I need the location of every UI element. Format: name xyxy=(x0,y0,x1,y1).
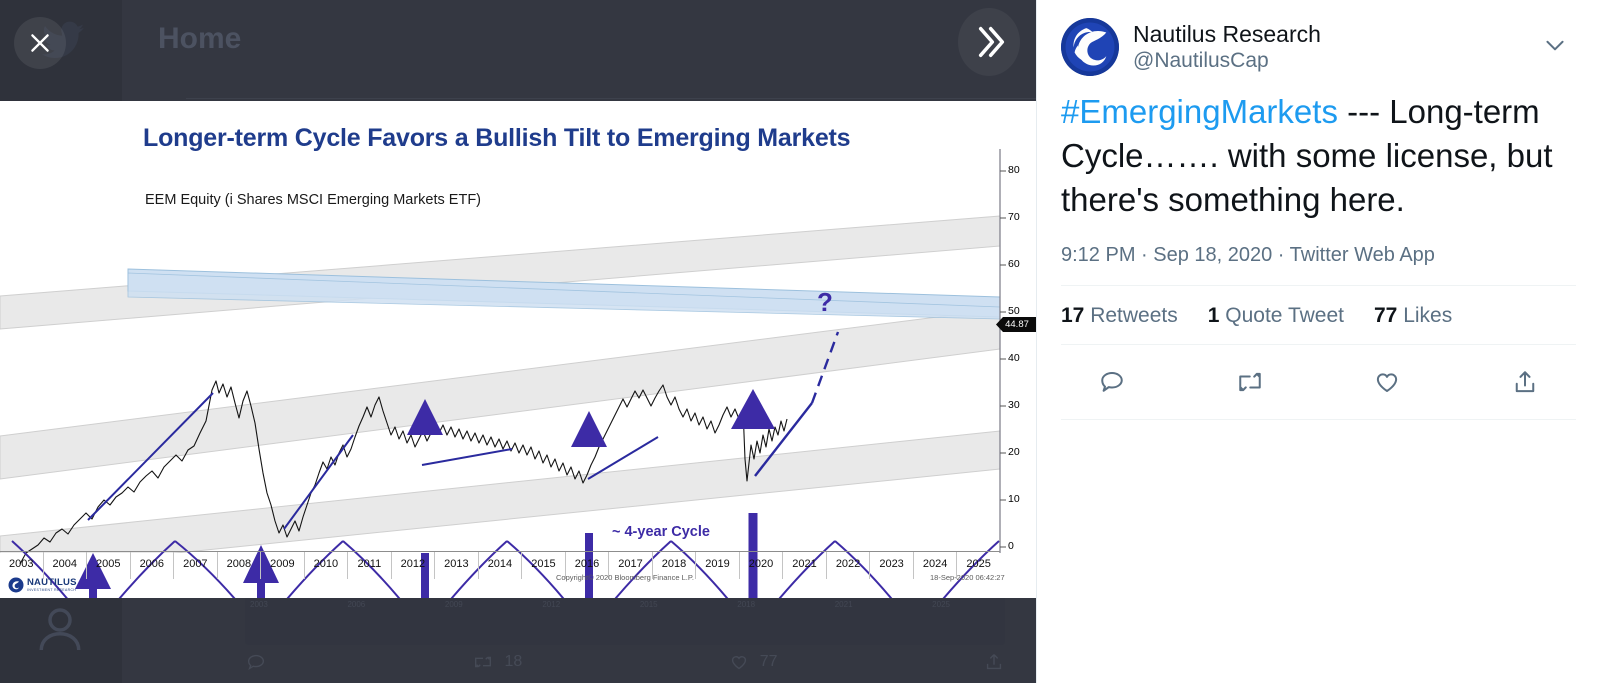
reply-button[interactable] xyxy=(1089,359,1135,405)
x-tick-2014: 2014 xyxy=(478,552,522,579)
y-tick-70: 70 xyxy=(1008,211,1020,223)
tweet-display-name: Nautilus Research xyxy=(1133,21,1534,47)
x-tick-2003: 2003 xyxy=(0,552,43,579)
x-tick-2022: 2022 xyxy=(826,552,870,579)
retweet-icon xyxy=(1235,367,1265,397)
x-tick-2021: 2021 xyxy=(782,552,826,579)
y-tick-60: 60 xyxy=(1008,258,1020,270)
media-lightbox: Longer-term Cycle Favors a Bullish Tilt … xyxy=(0,0,1600,683)
x-tick-2007: 2007 xyxy=(173,552,217,579)
tweet-hashtag-link[interactable]: #EmergingMarkets xyxy=(1061,93,1338,130)
tweet-detail-panel: Nautilus Research @NautilusCap #Emerging… xyxy=(1036,0,1600,683)
chevron-down-icon xyxy=(1542,32,1568,58)
lightbox-media-pane: Longer-term Cycle Favors a Bullish Tilt … xyxy=(0,0,1036,683)
y-tick-20: 20 xyxy=(1008,446,1020,458)
x-tick-2023: 2023 xyxy=(869,552,913,579)
x-tick-2008: 2008 xyxy=(217,552,261,579)
x-tick-2013: 2013 xyxy=(434,552,478,579)
nautilus-watermark: NAUTILUS INVESTMENT RESEARCH xyxy=(8,577,77,593)
y-axis-labels: 80 70 60 50 40 30 20 10 0 xyxy=(1004,101,1036,598)
chart-copyright: Copyright© 2020 Bloomberg Finance L.P. xyxy=(556,573,694,582)
chart-plot xyxy=(0,101,1036,598)
retweets-label: Retweets xyxy=(1090,304,1178,327)
x-tick-2012: 2012 xyxy=(391,552,435,579)
close-button[interactable] xyxy=(14,17,66,69)
more-options-button[interactable] xyxy=(1534,32,1576,63)
next-media-button[interactable] xyxy=(958,8,1020,76)
quote-tweets-count: 1 xyxy=(1208,304,1220,327)
tweet-text: #EmergingMarkets --- Long-term Cycle……. … xyxy=(1061,90,1576,222)
tweet-handle: @NautilusCap xyxy=(1133,48,1534,73)
share-button[interactable] xyxy=(1502,359,1548,405)
likes-stat[interactable]: 77 Likes xyxy=(1374,304,1452,328)
last-price-badge: 44.87 xyxy=(996,317,1036,332)
quote-tweets-label: Quote Tweet xyxy=(1225,304,1344,327)
quote-tweets-stat[interactable]: 1 Quote Tweet xyxy=(1208,304,1344,328)
tweet-stats: 17 Retweets 1 Quote Tweet 77 Likes xyxy=(1061,286,1576,344)
likes-label: Likes xyxy=(1403,304,1452,327)
x-tick-2020: 2020 xyxy=(739,552,783,579)
cycle-annotation: ~ 4-year Cycle xyxy=(612,524,710,540)
y-tick-10: 10 xyxy=(1008,493,1020,505)
next-chevron-icon xyxy=(969,20,1009,64)
tweet-timestamp-meta: 9:12 PM · Sep 18, 2020 · Twitter Web App xyxy=(1061,244,1576,267)
close-icon xyxy=(27,30,53,56)
x-tick-2010: 2010 xyxy=(304,552,348,579)
x-tick-2004: 2004 xyxy=(43,552,87,579)
chart-timestamp: 18-Sep-2020 06:42:27 xyxy=(930,573,1005,582)
retweets-stat[interactable]: 17 Retweets xyxy=(1061,304,1178,328)
like-icon xyxy=(1372,367,1402,397)
x-tick-2006: 2006 xyxy=(130,552,174,579)
tweet-author-names: Nautilus Research @NautilusCap xyxy=(1133,21,1534,73)
retweets-count: 17 xyxy=(1061,304,1084,327)
nautilus-logo-subtext: INVESTMENT RESEARCH xyxy=(27,588,77,592)
x-tick-2009: 2009 xyxy=(260,552,304,579)
x-tick-2005: 2005 xyxy=(86,552,130,579)
likes-count: 77 xyxy=(1374,304,1397,327)
share-icon xyxy=(1510,367,1540,397)
y-tick-30: 30 xyxy=(1008,399,1020,411)
like-button[interactable] xyxy=(1364,359,1410,405)
tweet-author-header: Nautilus Research @NautilusCap xyxy=(1061,0,1576,76)
avatar[interactable] xyxy=(1061,18,1119,76)
y-tick-50: 50 xyxy=(1008,305,1020,317)
chart-image[interactable]: Longer-term Cycle Favors a Bullish Tilt … xyxy=(0,101,1036,598)
x-axis-year-labels: 2003 2004 2005 2006 2007 2008 2009 2010 … xyxy=(0,551,1000,579)
nautilus-logo-avatar-icon xyxy=(1061,18,1119,76)
tweet-action-bar xyxy=(1061,344,1576,420)
nautilus-shell-icon xyxy=(8,577,24,593)
reply-icon xyxy=(1097,367,1127,397)
retweet-button[interactable] xyxy=(1227,359,1273,405)
x-tick-2011: 2011 xyxy=(347,552,391,579)
projection-question-mark: ? xyxy=(817,287,833,318)
x-tick-2019: 2019 xyxy=(695,552,739,579)
y-tick-80: 80 xyxy=(1008,164,1020,176)
nautilus-logo-text: NAUTILUS xyxy=(27,578,77,588)
y-tick-40: 40 xyxy=(1008,352,1020,364)
y-tick-0: 0 xyxy=(1008,540,1014,552)
uptrend-2013-2015 xyxy=(422,449,512,465)
